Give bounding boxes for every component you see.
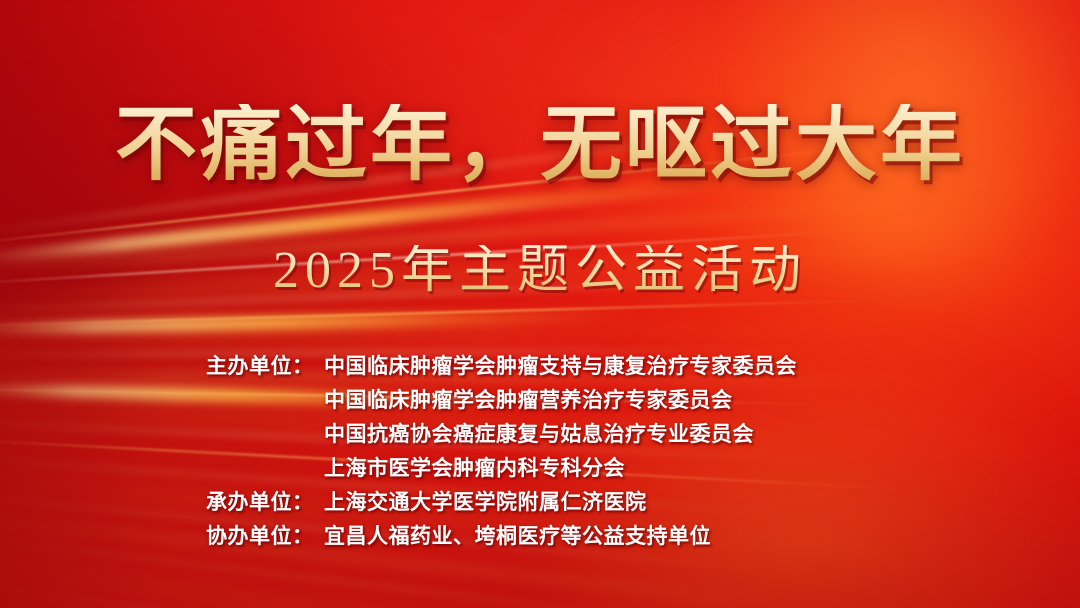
credit-label: 协办单位： [206,520,324,550]
credit-row: 中国抗癌协会癌症康复与姑息治疗专业委员会 [206,418,1080,452]
credit-value: 中国临床肿瘤学会肿瘤支持与康复治疗专家委员会 [324,350,797,380]
credit-value: 中国抗癌协会癌症康复与姑息治疗专业委员会 [324,418,754,448]
organizer-credits: 主办单位：中国临床肿瘤学会肿瘤支持与康复治疗专家委员会 中国临床肿瘤学会肿瘤营养… [0,350,1080,554]
poster-title: 不痛过年，无呕过大年 [0,104,1080,186]
credit-value: 上海市医学会肿瘤内科专科分会 [324,452,625,482]
credit-row: 上海市医学会肿瘤内科专科分会 [206,452,1080,486]
poster-content: 不痛过年，无呕过大年 2025年主题公益活动 主办单位：中国临床肿瘤学会肿瘤支持… [0,0,1080,608]
event-poster: 不痛过年，无呕过大年 2025年主题公益活动 主办单位：中国临床肿瘤学会肿瘤支持… [0,0,1080,608]
credit-value: 宜昌人福药业、垮桐医疗等公益支持单位 [324,520,711,550]
credit-row: 中国临床肿瘤学会肿瘤营养治疗专家委员会 [206,384,1080,418]
credit-label: 主办单位： [206,350,324,380]
credit-value: 上海交通大学医学院附属仁济医院 [324,486,647,516]
poster-subtitle: 2025年主题公益活动 [0,245,1080,297]
credit-row: 承办单位：上海交通大学医学院附属仁济医院 [206,486,1080,520]
credit-label: 承办单位： [206,486,324,516]
credit-value: 中国临床肿瘤学会肿瘤营养治疗专家委员会 [324,384,733,414]
credit-row: 协办单位：宜昌人福药业、垮桐医疗等公益支持单位 [206,520,1080,554]
credit-row: 主办单位：中国临床肿瘤学会肿瘤支持与康复治疗专家委员会 [206,350,1080,384]
